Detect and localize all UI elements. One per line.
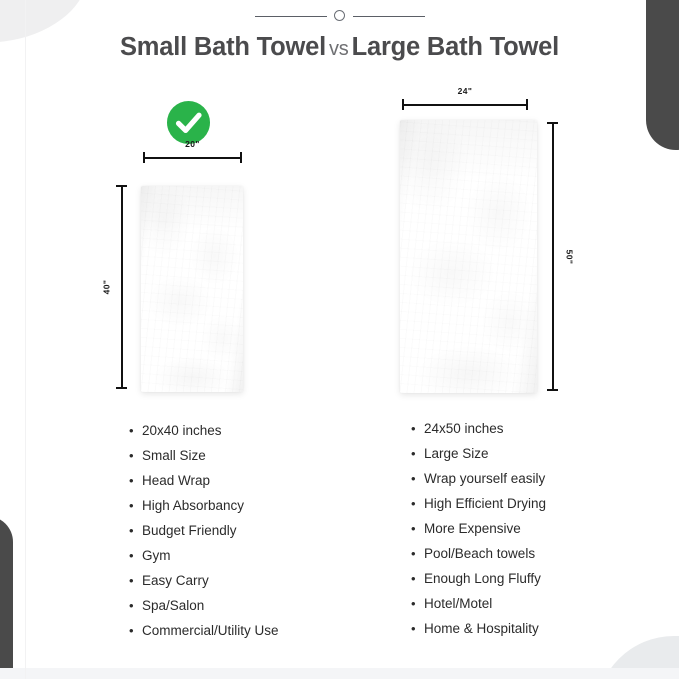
dimension-line	[121, 185, 123, 389]
dimension-large-width: 24"	[402, 99, 528, 110]
dimension-cap-right	[526, 99, 528, 110]
dimension-small-height-label: 40"	[101, 280, 111, 295]
list-item: Home & Hospitality	[411, 616, 546, 641]
dimension-large-width-label: 24"	[402, 86, 528, 96]
dimension-line	[143, 157, 242, 159]
list-item: High Absorbancy	[129, 493, 279, 518]
dimension-cap-right	[240, 152, 242, 163]
dimension-large-height-label: 50"	[564, 249, 574, 264]
corner-decoration-bottom-left	[0, 516, 13, 679]
small-towel-feature-list: 20x40 inches Small Size Head Wrap High A…	[129, 418, 279, 643]
list-item: Hotel/Motel	[411, 591, 546, 616]
list-item: Easy Carry	[129, 568, 279, 593]
check-mark-icon	[167, 101, 210, 144]
list-item: More Expensive	[411, 516, 546, 541]
page-title-vs: vs	[326, 38, 352, 60]
infographic-canvas: Small Bath TowelvsLarge Bath Towel 20" 4…	[0, 0, 679, 679]
list-item: Large Size	[411, 441, 546, 466]
list-item: 20x40 inches	[129, 418, 279, 443]
dimension-cap-bottom	[547, 389, 558, 391]
bottom-band-decoration	[0, 668, 679, 679]
dimension-line	[402, 104, 528, 106]
page-title-right: Large Bath Towel	[352, 33, 559, 61]
list-item: Spa/Salon	[129, 593, 279, 618]
corner-decoration-top-right	[646, 0, 679, 150]
list-item: Gym	[129, 543, 279, 568]
list-item: 24x50 inches	[411, 416, 546, 441]
dimension-small-height: 40"	[116, 185, 127, 389]
left-edge-divider	[25, 0, 26, 679]
list-item: Pool/Beach towels	[411, 541, 546, 566]
list-item: Wrap yourself easily	[411, 466, 546, 491]
list-item: Enough Long Fluffy	[411, 566, 546, 591]
divider-line-left	[255, 16, 327, 17]
header-divider-ornament	[255, 16, 425, 18]
list-item: Commercial/Utility Use	[129, 618, 279, 643]
list-item: Small Size	[129, 443, 279, 468]
dimension-small-width-label: 20"	[143, 139, 242, 149]
list-item: Budget Friendly	[129, 518, 279, 543]
dimension-line	[552, 122, 554, 391]
list-item: Head Wrap	[129, 468, 279, 493]
dimension-large-height: 50"	[547, 122, 558, 391]
divider-circle-icon	[334, 10, 345, 21]
small-bath-towel-image	[141, 186, 243, 392]
corner-decoration-bottom-right	[596, 636, 679, 679]
large-towel-feature-list: 24x50 inches Large Size Wrap yourself ea…	[411, 416, 546, 641]
dimension-small-width: 20"	[143, 152, 242, 163]
large-bath-towel-image	[400, 120, 537, 393]
divider-line-right	[353, 16, 425, 17]
dimension-cap-bottom	[116, 387, 127, 389]
page-title: Small Bath TowelvsLarge Bath Towel	[0, 33, 679, 62]
page-title-left: Small Bath Towel	[120, 33, 326, 61]
list-item: High Efficient Drying	[411, 491, 546, 516]
